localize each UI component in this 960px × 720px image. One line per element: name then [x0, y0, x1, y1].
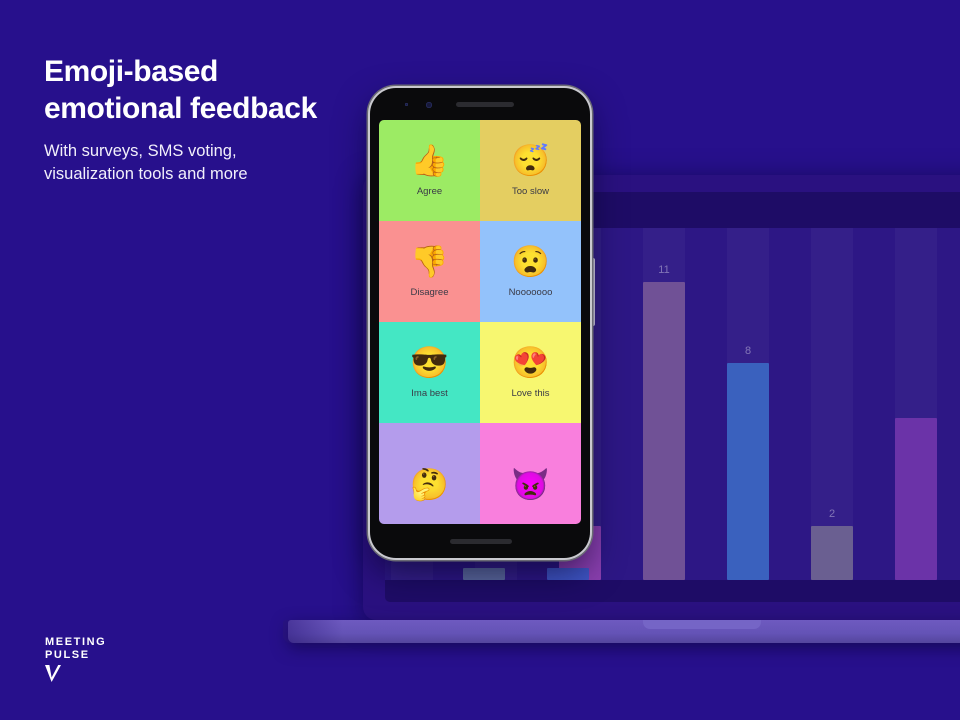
proximity-sensor-icon [405, 103, 408, 106]
promo-slide: Emoji-based emotional feedback With surv… [0, 0, 960, 720]
emoji-cell-ima-best[interactable]: 😎Ima best [379, 322, 480, 423]
sleeping-face-emoji: 😴 [511, 145, 550, 176]
emoji-cell-nooooooo[interactable]: 😧Nooooooo [480, 221, 581, 322]
chart-bar-value: 2 [811, 508, 853, 520]
emoji-cell-love-this[interactable]: 😍Love this [480, 322, 581, 423]
phone-mockup: 👍Agree😴Too slow👎Disagree😧Nooooooo😎Ima be… [370, 88, 590, 558]
anguished-face-emoji: 😧 [511, 246, 550, 277]
chart-column[interactable]: 2 [811, 228, 853, 580]
chart-column[interactable]: 8 [727, 228, 769, 580]
chart-column[interactable]: 11 [643, 228, 685, 580]
emoji-reaction-grid: 👍Agree😴Too slow👎Disagree😧Nooooooo😎Ima be… [379, 120, 581, 524]
page-subtitle: With surveys, SMS voting, visualization … [44, 140, 344, 187]
logo-text-pulse: PULSE [45, 649, 195, 662]
emoji-cell-too-slow[interactable]: 😴Too slow [480, 120, 581, 221]
thinking-face-emoji: 🤔 [410, 469, 449, 500]
chart-bar-occluded[interactable] [463, 568, 505, 580]
earpiece-speaker [456, 102, 514, 107]
sunglasses-face-emoji: 😎 [410, 347, 449, 378]
chart-bar-value: 11 [643, 264, 685, 276]
emoji-cell-thinking-face-emoji[interactable]: 🤔 [379, 423, 480, 524]
thumbs-down-emoji: 👎 [410, 246, 449, 277]
laptop-base [288, 620, 960, 643]
chart-bar[interactable] [643, 282, 685, 580]
angry-devil-emoji: 👿 [511, 469, 550, 500]
emoji-cell-disagree[interactable]: 👎Disagree [379, 221, 480, 322]
bottom-speaker [450, 539, 512, 544]
page-title: Emoji-based emotional feedback [44, 54, 354, 127]
thumbs-up-emoji: 👍 [410, 145, 449, 176]
chart-bar[interactable] [727, 363, 769, 580]
brand-logo: MEETING PULSE [45, 636, 195, 687]
chart-bar[interactable] [895, 418, 937, 580]
emoji-cell-label: Disagree [410, 287, 448, 298]
emoji-cell-label: Too slow [512, 186, 549, 197]
chart-bar-value: 8 [727, 345, 769, 357]
emoji-cell-agree[interactable]: 👍Agree [379, 120, 480, 221]
emoji-cell-label: Love this [511, 388, 549, 399]
heart-eyes-emoji: 😍 [511, 347, 550, 378]
chart-column[interactable] [895, 228, 937, 580]
emoji-cell-angry-devil-emoji[interactable]: 👿 [480, 423, 581, 524]
front-camera-icon [426, 102, 432, 108]
pulse-check-mark-icon [45, 665, 61, 682]
chart-bar-occluded[interactable] [547, 568, 589, 580]
emoji-cell-label: Nooooooo [509, 287, 553, 298]
logo-text-meeting: MEETING [45, 636, 195, 649]
chart-bar[interactable] [811, 526, 853, 580]
emoji-cell-label: Agree [417, 186, 442, 197]
emoji-cell-label: Ima best [411, 388, 447, 399]
